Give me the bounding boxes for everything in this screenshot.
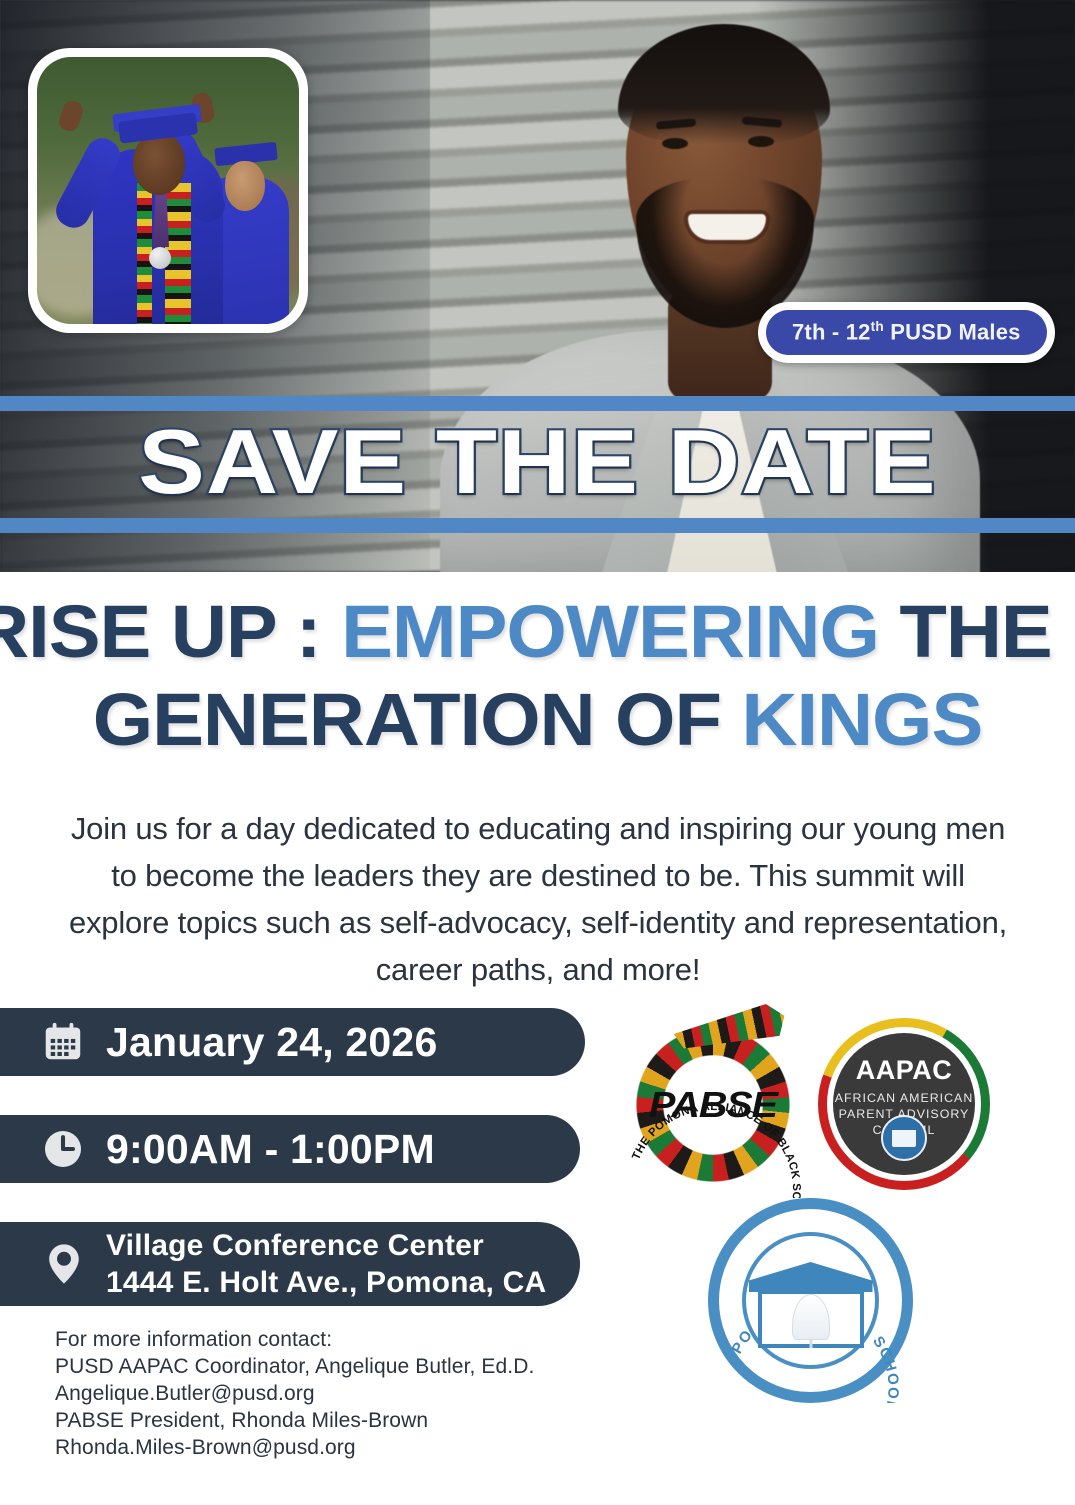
contact-email-pabse[interactable]: Rhonda.Miles-Brown@pusd.org (55, 1434, 534, 1461)
graduate-face-background (225, 161, 265, 211)
aapac-dark-center: AAPAC AFRICAN AMERICAN PARENT ADVISORY C… (833, 1033, 975, 1175)
pusd-logo: POMONA UNIFIED SCHOOL DISTRICT (708, 1198, 913, 1403)
headline-the-next: THE NEXT (879, 590, 1075, 673)
aapac-logo: AAPAC AFRICAN AMERICAN PARENT ADVISORY C… (818, 1018, 990, 1190)
contact-email-aapac[interactable]: Angelique.Butler@pusd.org (55, 1380, 534, 1407)
eye-left (662, 138, 688, 149)
venue-address: 1444 E. Holt Ave., Pomona, CA (106, 1266, 546, 1299)
event-time-pill: 9:00AM - 1:00PM (0, 1115, 580, 1183)
audience-badge-prefix: 7th - 12 (792, 319, 871, 344)
accent-stripe-bottom (0, 518, 1075, 533)
event-date-pill: January 24, 2026 (0, 1008, 585, 1076)
graduate-face (133, 133, 185, 195)
hair (618, 24, 830, 144)
smile (688, 214, 766, 240)
event-location-text: Village Conference Center 1444 E. Holt A… (46, 1227, 546, 1301)
headline-line-1: RISE UP : EMPOWERING THE NEXT (0, 588, 1075, 676)
contact-line-4: PABSE President, Rhonda Miles-Brown (55, 1407, 534, 1434)
event-description: Join us for a day dedicated to educating… (62, 805, 1014, 993)
location-pin-icon (40, 1240, 88, 1288)
flyer-page: 7th - 12th PUSD Males SAVE THE DATE RISE… (0, 0, 1075, 1505)
hand-left (57, 99, 85, 134)
headline-generation-of: GENERATION OF (93, 678, 742, 761)
audience-badge-inner: 7th - 12th PUSD Males (766, 310, 1047, 355)
hero-section: 7th - 12th PUSD Males SAVE THE DATE (0, 0, 1075, 572)
aapac-acronym: AAPAC (856, 1055, 953, 1086)
headline-rise-up: RISE UP : (0, 590, 341, 673)
aapac-subtitle-line-1: AFRICAN AMERICAN (835, 1090, 974, 1106)
pabse-logo: THE POMONA ALLIANCE OF BLACK SCHOOL EDUC… (618, 1008, 808, 1198)
contact-line-1: For more information contact: (55, 1326, 534, 1353)
graduation-photo (37, 57, 299, 324)
save-the-date-title: SAVE THE DATE (0, 407, 1075, 517)
graduation-photo-frame (28, 48, 308, 333)
headline-empowering: EMPOWERING (341, 590, 879, 673)
calendar-icon (40, 1019, 86, 1065)
headline-line-2: GENERATION OF KINGS (0, 676, 1075, 764)
audience-badge: 7th - 12th PUSD Males (758, 302, 1055, 363)
contact-info: For more information contact: PUSD AAPAC… (55, 1326, 534, 1461)
headline-kings: KINGS (741, 678, 982, 761)
clock-icon (40, 1126, 86, 1172)
eye-right (748, 136, 774, 147)
medal (149, 247, 171, 269)
aapac-seal-graduation-cap-icon (892, 1129, 916, 1147)
aapac-pusd-seal-icon (881, 1115, 927, 1161)
venue-name: Village Conference Center (106, 1229, 484, 1262)
pabse-acronym: PABSE (609, 1084, 818, 1126)
contact-line-2: PUSD AAPAC Coordinator, Angelique Butler… (55, 1353, 534, 1380)
event-location-pill: Village Conference Center 1444 E. Holt A… (0, 1222, 580, 1306)
page-title: RISE UP : EMPOWERING THE NEXT GENERATION… (0, 588, 1075, 764)
event-date-text: January 24, 2026 (46, 1019, 437, 1066)
event-time-text: 9:00AM - 1:00PM (46, 1126, 435, 1173)
audience-badge-superscript: th (871, 319, 884, 334)
audience-badge-suffix: PUSD Males (884, 319, 1021, 344)
